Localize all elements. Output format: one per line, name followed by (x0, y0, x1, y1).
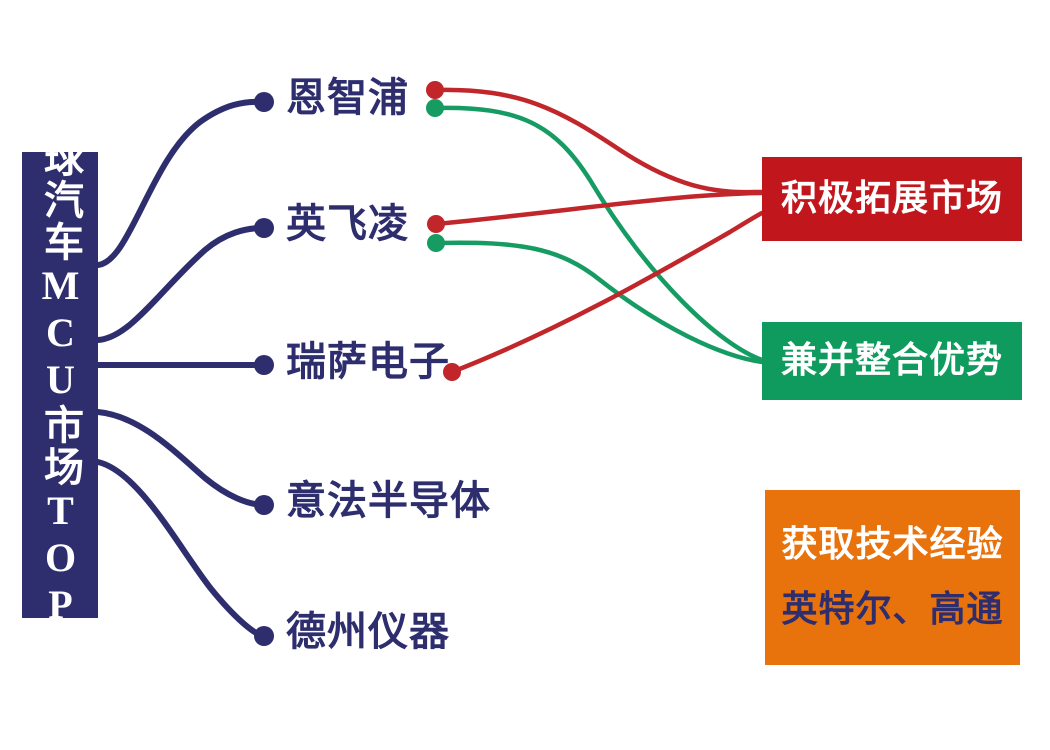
vendor-label-renesas[interactable]: 瑞萨电子 (286, 342, 450, 382)
source-title-text: 全球汽车MCU市场TOP5 (40, 95, 80, 676)
vendor-label-infineon[interactable]: 英飞凌 (286, 204, 409, 244)
vendor-node-dot-infineon (254, 218, 274, 238)
outcome-market-text: 积极拓展市场 (781, 179, 1003, 219)
outcome-tech-text-secondary: 英特尔、高通 (781, 590, 1003, 630)
leader-line-nxp (98, 102, 262, 265)
vendor-node-dot-renesas (254, 355, 274, 375)
vendor-label-st[interactable]: 意法半导体 (286, 481, 491, 521)
leader-line-ti (98, 462, 262, 636)
outcome-box-merger[interactable]: 兼并整合优势 (762, 322, 1022, 400)
connector-dot-infineon-green (427, 234, 445, 252)
leader-line-st (98, 412, 262, 505)
connector-dot-nxp-green (426, 99, 444, 117)
connector-dot-infineon-red (427, 215, 445, 233)
source-title-box: 全球汽车MCU市场TOP5 (22, 152, 98, 618)
link-nxp-to-merger (436, 108, 762, 360)
outcome-merger-text: 兼并整合优势 (781, 341, 1003, 381)
outcome-tech-text-primary: 获取技术经验 (781, 525, 1003, 565)
vendor-node-dot-st (254, 495, 274, 515)
link-nxp-to-market (436, 90, 762, 192)
vendor-label-ti[interactable]: 德州仪器 (286, 612, 450, 652)
diagram-canvas: 全球汽车MCU市场TOP5 恩智浦 英飞凌 瑞萨电子 意法半导体 德州仪器 积极… (0, 0, 1050, 750)
vendor-node-dot-ti (254, 626, 274, 646)
vendor-node-dot-nxp (254, 92, 274, 112)
connector-dot-nxp-red (426, 81, 444, 99)
outcome-box-tech[interactable]: 获取技术经验 英特尔、高通 (765, 490, 1020, 665)
outcome-box-market[interactable]: 积极拓展市场 (762, 157, 1022, 241)
vendor-label-nxp[interactable]: 恩智浦 (286, 78, 409, 118)
